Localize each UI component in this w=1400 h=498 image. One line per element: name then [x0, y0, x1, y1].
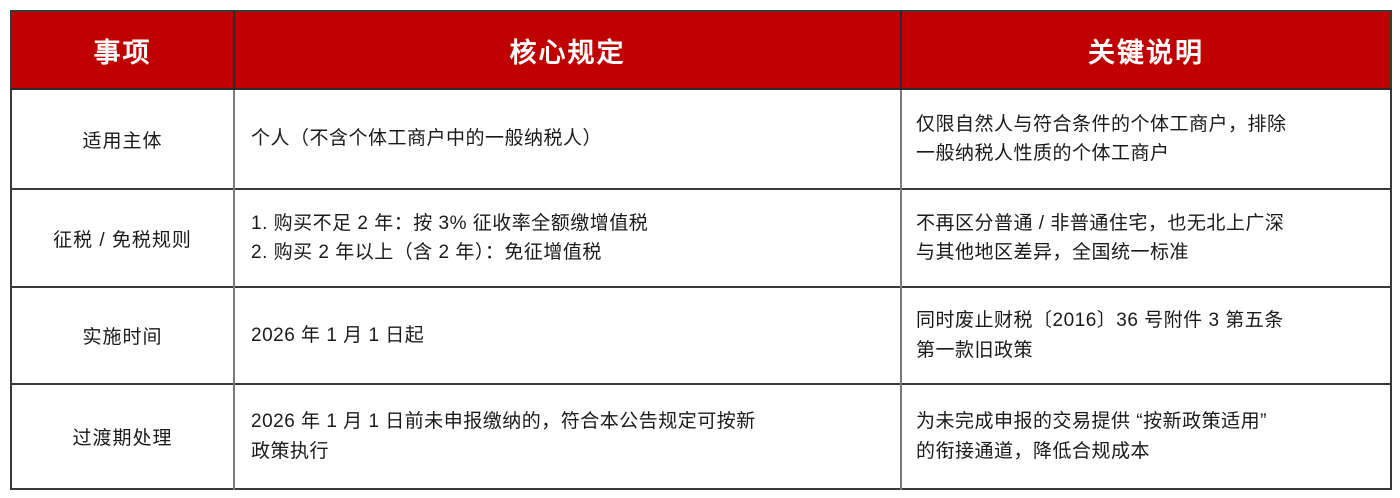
core-rule-lines: 2026 年 1 月 1 日起 — [251, 321, 886, 350]
core-rule-list-item: 1. 购买不足 2 年：按 3% 征收率全额缴增值税 — [251, 209, 886, 238]
cell-key-note: 为未完成申报的交易提供 “按新政策适用” 的衔接通道，降低合规成本 — [901, 384, 1391, 489]
table-row: 实施时间 2026 年 1 月 1 日起 同时废止财税〔2016〕36 号附件 … — [11, 287, 1391, 384]
header-cell-key-note: 关键说明 — [901, 11, 1391, 89]
table-row: 适用主体 个人（不含个体工商户中的一般纳税人） 仅限自然人与符合条件的个体工商户… — [11, 89, 1391, 189]
core-rule-line: 2026 年 1 月 1 日前未申报缴纳的，符合本公告规定可按新 — [251, 407, 886, 436]
key-note-line: 仅限自然人与符合条件的个体工商户，排除 — [916, 110, 1376, 139]
header-cell-item: 事项 — [11, 11, 234, 89]
key-note-line: 为未完成申报的交易提供 “按新政策适用” — [916, 407, 1376, 436]
cell-core-rule: 2026 年 1 月 1 日前未申报缴纳的，符合本公告规定可按新 政策执行 — [234, 384, 901, 489]
core-rule-line: 个人（不含个体工商户中的一般纳税人） — [251, 124, 886, 153]
cell-item: 征税 / 免税规则 — [11, 189, 234, 287]
cell-key-note: 不再区分普通 / 非普通住宅，也无北上广深 与其他地区差异，全国统一标准 — [901, 189, 1391, 287]
header-row: 事项 核心规定 关键说明 — [11, 11, 1391, 89]
policy-table: 事项 核心规定 关键说明 适用主体 个人（不含个体工商户中的一般纳税人） 仅限自… — [10, 10, 1392, 490]
key-note-lines: 同时废止财税〔2016〕36 号附件 3 第五条 第一款旧政策 — [916, 306, 1376, 365]
key-note-line: 第一款旧政策 — [916, 336, 1376, 365]
table-body: 适用主体 个人（不含个体工商户中的一般纳税人） 仅限自然人与符合条件的个体工商户… — [11, 89, 1391, 489]
table-row: 过渡期处理 2026 年 1 月 1 日前未申报缴纳的，符合本公告规定可按新 政… — [11, 384, 1391, 489]
key-note-line: 一般纳税人性质的个体工商户 — [916, 139, 1376, 168]
page-root: 事项 核心规定 关键说明 适用主体 个人（不含个体工商户中的一般纳税人） 仅限自… — [0, 0, 1400, 498]
core-rule-list: 1. 购买不足 2 年：按 3% 征收率全额缴增值税 2. 购买 2 年以上（含… — [251, 209, 886, 268]
header-cell-core-rule: 核心规定 — [234, 11, 901, 89]
cell-core-rule: 1. 购买不足 2 年：按 3% 征收率全额缴增值税 2. 购买 2 年以上（含… — [234, 189, 901, 287]
key-note-line: 与其他地区差异，全国统一标准 — [916, 238, 1376, 267]
cell-core-rule: 个人（不含个体工商户中的一般纳税人） — [234, 89, 901, 189]
table-row: 征税 / 免税规则 1. 购买不足 2 年：按 3% 征收率全额缴增值税 2. … — [11, 189, 1391, 287]
cell-item: 实施时间 — [11, 287, 234, 384]
cell-key-note: 仅限自然人与符合条件的个体工商户，排除 一般纳税人性质的个体工商户 — [901, 89, 1391, 189]
core-rule-lines: 个人（不含个体工商户中的一般纳税人） — [251, 124, 886, 153]
key-note-lines: 仅限自然人与符合条件的个体工商户，排除 一般纳税人性质的个体工商户 — [916, 110, 1376, 169]
core-rule-list-item: 2. 购买 2 年以上（含 2 年）：免征增值税 — [251, 238, 886, 267]
cell-item: 适用主体 — [11, 89, 234, 189]
key-note-lines: 为未完成申报的交易提供 “按新政策适用” 的衔接通道，降低合规成本 — [916, 407, 1376, 466]
key-note-line: 不再区分普通 / 非普通住宅，也无北上广深 — [916, 209, 1376, 238]
key-note-line: 同时废止财税〔2016〕36 号附件 3 第五条 — [916, 306, 1376, 335]
cell-item: 过渡期处理 — [11, 384, 234, 489]
cell-key-note: 同时废止财税〔2016〕36 号附件 3 第五条 第一款旧政策 — [901, 287, 1391, 384]
core-rule-line: 2026 年 1 月 1 日起 — [251, 321, 886, 350]
core-rule-lines: 2026 年 1 月 1 日前未申报缴纳的，符合本公告规定可按新 政策执行 — [251, 407, 886, 466]
cell-core-rule: 2026 年 1 月 1 日起 — [234, 287, 901, 384]
table-header: 事项 核心规定 关键说明 — [11, 11, 1391, 89]
core-rule-line: 政策执行 — [251, 437, 886, 466]
key-note-line: 的衔接通道，降低合规成本 — [916, 437, 1376, 466]
key-note-lines: 不再区分普通 / 非普通住宅，也无北上广深 与其他地区差异，全国统一标准 — [916, 209, 1376, 268]
